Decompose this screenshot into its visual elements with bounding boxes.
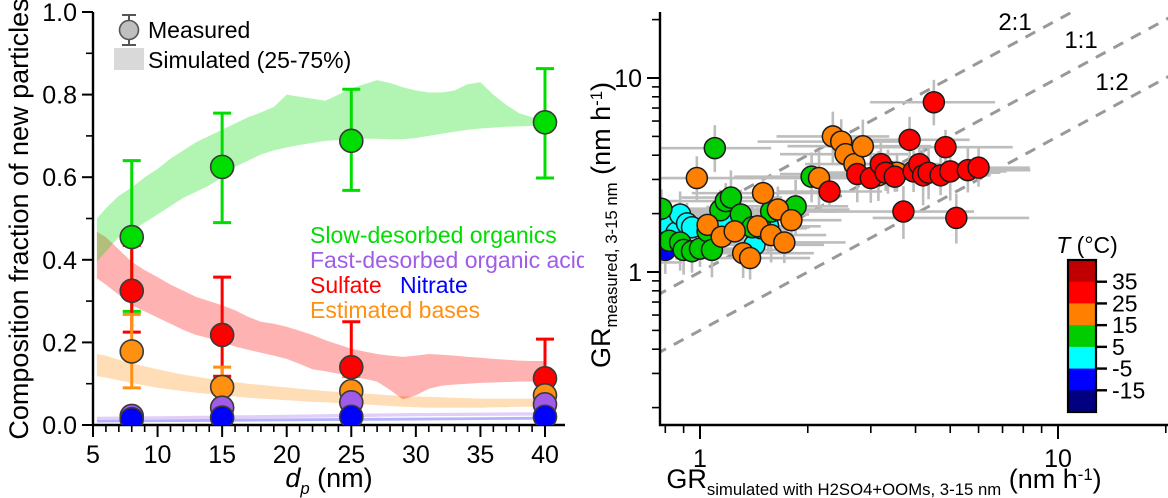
legend-measured: Measured bbox=[120, 15, 251, 45]
x-axis-subscript: simulated with H2SO4+OOMs, 3-15 nm bbox=[707, 480, 1001, 498]
data-point-slow-desorbed-organics bbox=[120, 226, 143, 249]
scatter-point bbox=[704, 138, 725, 159]
scatter-point bbox=[852, 136, 873, 157]
data-point-estimated-bases bbox=[120, 340, 143, 363]
scatter-point bbox=[724, 221, 745, 242]
data-point-sulfate bbox=[340, 356, 363, 379]
colorbar-tick-label: -15 bbox=[1112, 377, 1145, 403]
right-x-axis-title: GRsimulated with H2SO4+OOMs, 3-15 nm (nm… bbox=[666, 464, 1101, 498]
x-axis-gr: GR bbox=[666, 464, 707, 494]
data-point-estimated-bases bbox=[211, 376, 234, 399]
colorbar-ticks: 3525155-5-15 bbox=[1096, 269, 1145, 404]
x-axis-symbol: d bbox=[285, 463, 301, 493]
y-tick-label: 0.0 bbox=[42, 412, 77, 440]
scatter-point bbox=[740, 248, 761, 269]
y-tick-label: 0.4 bbox=[42, 247, 77, 275]
y-axis-gr: GR bbox=[586, 328, 616, 369]
x-tick-label: 15 bbox=[208, 441, 236, 469]
colorbar-band bbox=[1068, 260, 1096, 282]
y-tick-label: 1.0 bbox=[42, 0, 77, 27]
x-axis-unit: (nm h bbox=[1009, 464, 1078, 494]
scatter-point bbox=[584, 260, 596, 281]
x-tick-label: 35 bbox=[467, 441, 495, 469]
y-axis-unit-exponent: -1 bbox=[587, 91, 606, 106]
data-point-sulfate bbox=[211, 323, 234, 346]
series-label-bases: Estimated bases bbox=[310, 297, 480, 323]
data-point-nitrate bbox=[534, 405, 557, 428]
data-point-slow-desorbed-organics bbox=[340, 129, 363, 152]
series-label-sulfate: Sulfate bbox=[310, 272, 382, 298]
ratio-labels-group: 2:11:11:2 bbox=[998, 9, 1128, 96]
colorbar-band bbox=[1068, 325, 1096, 347]
data-point-sulfate bbox=[120, 279, 143, 302]
scatter-point bbox=[781, 210, 802, 231]
data-point-nitrate bbox=[340, 405, 363, 428]
colorbar-band bbox=[1068, 347, 1096, 369]
ratio-label-2-1: 2:1 bbox=[998, 9, 1031, 36]
y-axis-subscript: measured, 3-15 nm bbox=[602, 182, 621, 327]
composition-fraction-panel: 0.00.20.40.60.81.0 510152025303540 Compo… bbox=[0, 0, 584, 498]
series-label-nitrate: Nitrate bbox=[400, 272, 468, 298]
y-tick-label: 0.6 bbox=[42, 164, 77, 192]
left-y-axis-title: Composition fraction of new particles bbox=[4, 0, 34, 440]
scatter-point bbox=[884, 166, 905, 187]
colorbar-band bbox=[1068, 390, 1096, 412]
scatter-point bbox=[819, 181, 840, 202]
x-tick-label: 40 bbox=[531, 441, 559, 469]
right-y-axis-title: GRmeasured, 3-15 nm (nm h-1) bbox=[586, 82, 621, 368]
scatter-point bbox=[946, 207, 967, 228]
series-label-fast-organics: Fast-desorbed organic acids bbox=[310, 247, 584, 273]
scatter-point bbox=[584, 186, 593, 207]
colorbar-band bbox=[1068, 282, 1096, 304]
scatter-point bbox=[686, 168, 707, 189]
x-tick-label: 10 bbox=[144, 441, 172, 469]
y-tick-label: 0.8 bbox=[42, 82, 77, 110]
y-tick-label: 0.2 bbox=[42, 329, 77, 357]
data-point-slow-desorbed-organics bbox=[211, 155, 234, 178]
legend-simulated-label: Simulated (25-75%) bbox=[148, 47, 351, 73]
measured-marker-icon bbox=[120, 21, 139, 40]
colorbar-band bbox=[1068, 303, 1096, 325]
figure-container: 0.00.20.40.60.81.0 510152025303540 Compo… bbox=[0, 0, 1168, 498]
colorbar: T (°C) 3525155-5-15 bbox=[1056, 232, 1145, 413]
scatter-point bbox=[899, 129, 920, 150]
legend-measured-label: Measured bbox=[148, 17, 250, 43]
scatter-point bbox=[923, 92, 944, 113]
colorbar-unit: (°C) bbox=[1077, 232, 1118, 258]
scatter-point bbox=[651, 198, 672, 219]
scatter-point bbox=[935, 137, 956, 158]
x-axis-unit: (nm) bbox=[317, 463, 373, 493]
data-point-slow-desorbed-organics bbox=[534, 111, 557, 134]
scatter-point bbox=[753, 183, 774, 204]
legend-simulated: Simulated (25-75%) bbox=[114, 47, 351, 73]
x-tick-label: 30 bbox=[402, 441, 430, 469]
x-tick-label: 5 bbox=[86, 441, 100, 469]
series-label-slow-organics: Slow-desorbed organics bbox=[310, 222, 557, 248]
scatter-point bbox=[774, 232, 795, 253]
scatter-point bbox=[638, 205, 659, 226]
ratio-label-1-2: 1:2 bbox=[1095, 69, 1128, 96]
ratio-label-1-1: 1:1 bbox=[1064, 27, 1097, 54]
y-axis-unit-close: ) bbox=[586, 82, 616, 91]
y-tick-label: 10 bbox=[614, 65, 642, 93]
left-x-axis-title: dp (nm) bbox=[285, 463, 372, 498]
scatter-point bbox=[893, 201, 914, 222]
composition-fraction-chart: 0.00.20.40.60.81.0 510152025303540 Compo… bbox=[0, 0, 584, 498]
colorbar-title: T (°C) bbox=[1056, 232, 1118, 258]
growth-rate-chart: 110110 2:11:11:2 GRmeasured, 3-15 nm (nm… bbox=[584, 0, 1168, 498]
y-tick-label: 1 bbox=[628, 259, 642, 287]
x-axis-subscript: p bbox=[299, 479, 309, 498]
y-axis-unit: (nm h bbox=[586, 106, 616, 175]
growth-rate-scatter-panel: 110110 2:11:11:2 GRmeasured, 3-15 nm (nm… bbox=[584, 0, 1168, 498]
colorbar-band bbox=[1068, 369, 1096, 391]
x-axis-unit-exponent: -1 bbox=[1078, 465, 1093, 484]
colorbar-bands bbox=[1068, 260, 1096, 413]
x-axis-unit-close: ) bbox=[1093, 464, 1102, 494]
left-y-tick-labels: 0.00.20.40.60.81.0 bbox=[42, 0, 77, 440]
simulated-band-swatch bbox=[114, 48, 144, 70]
scatter-point bbox=[968, 157, 989, 178]
